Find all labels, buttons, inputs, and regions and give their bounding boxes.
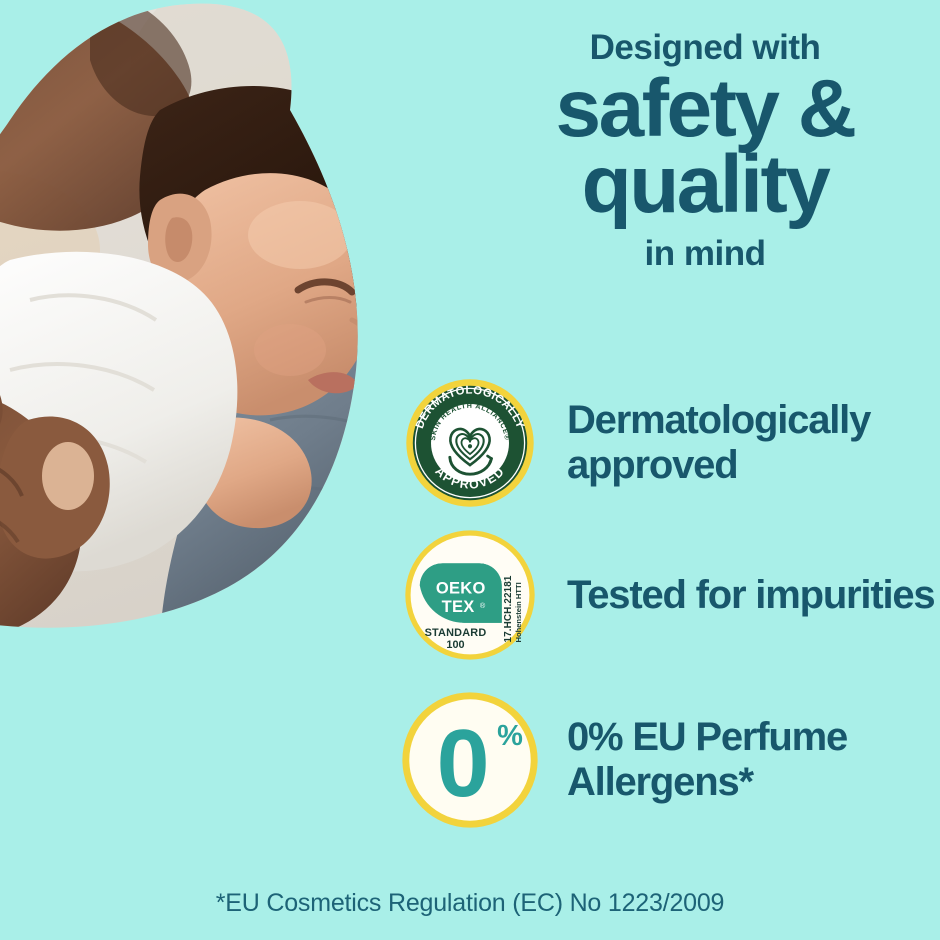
feature-row-zero-percent-allergens: 0 % 0% EU Perfume Allergens* xyxy=(395,685,940,835)
headline-line-3: quality xyxy=(470,145,940,225)
feature-label-dermatologically-approved: Dermatologically approved xyxy=(567,398,870,488)
headline-line-2: safety & xyxy=(470,69,940,149)
oeko-tex-standard-line2: 100 xyxy=(446,639,464,651)
infographic-canvas: Designed with safety & quality in mind D… xyxy=(0,0,940,940)
badge-slot-dermatologically-approved: DERMATOLOGICALLY APPROVED SKIN HEALTH AL… xyxy=(395,378,545,508)
oeko-tex-standard-100-seal-icon: OEKO TEX ® STANDARD 100 17.HCH.22181 Hoh… xyxy=(404,529,536,661)
baby-photo xyxy=(0,0,420,650)
oeko-tex-brand-line2: TEX xyxy=(442,598,475,616)
oeko-tex-institute: Hohenstein HTTI xyxy=(514,582,523,642)
headline-block: Designed with safety & quality in mind xyxy=(470,30,940,271)
oeko-tex-brand-line1: OEKO xyxy=(436,580,486,598)
zero-percent-unit: % xyxy=(497,720,523,752)
zero-percent-seal-icon: 0 % xyxy=(401,691,539,829)
footnote: *EU Cosmetics Regulation (EC) No 1223/20… xyxy=(0,889,940,918)
headline-line-1: Designed with xyxy=(470,30,940,65)
badge-slot-zero-percent: 0 % xyxy=(395,691,545,829)
dermatologically-approved-seal-icon: DERMATOLOGICALLY APPROVED SKIN HEALTH AL… xyxy=(405,378,535,508)
feature-row-tested-for-impurities: OEKO TEX ® STANDARD 100 17.HCH.22181 Hoh… xyxy=(395,520,940,670)
oeko-tex-standard-line1: STANDARD xyxy=(425,627,487,639)
badge-slot-oeko-tex: OEKO TEX ® STANDARD 100 17.HCH.22181 Hoh… xyxy=(395,529,545,661)
feature-row-dermatologically-approved: DERMATOLOGICALLY APPROVED SKIN HEALTH AL… xyxy=(395,368,940,518)
zero-percent-number: 0 xyxy=(437,711,487,817)
oeko-tex-registered-mark: ® xyxy=(480,601,486,610)
headline-line-4: in mind xyxy=(470,236,940,271)
feature-label-tested-for-impurities: Tested for impurities xyxy=(567,573,934,618)
baby-photo-illustration xyxy=(0,0,420,650)
oeko-tex-certificate-number: 17.HCH.22181 xyxy=(503,575,514,642)
feature-label-zero-percent-allergens: 0% EU Perfume Allergens* xyxy=(567,715,847,805)
